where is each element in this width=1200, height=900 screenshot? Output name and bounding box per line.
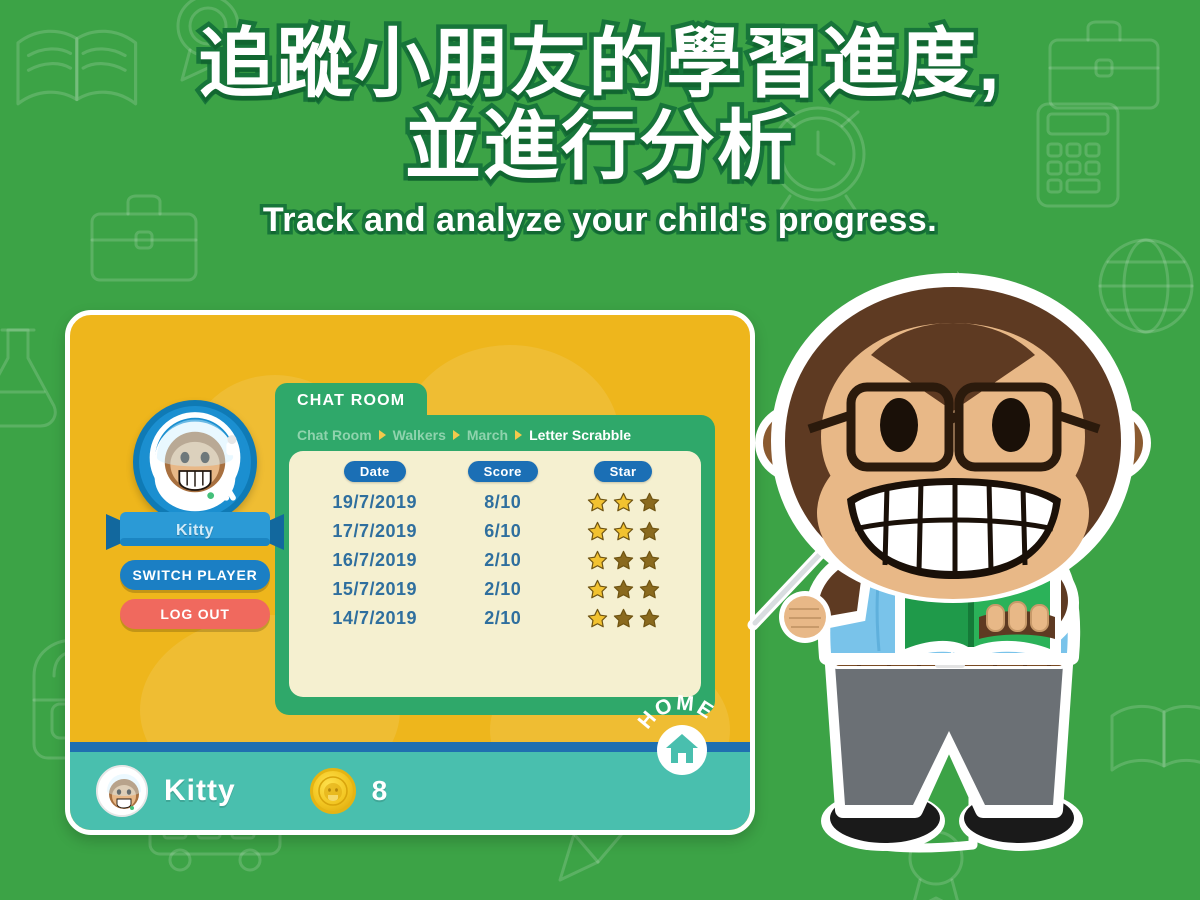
star-rating	[557, 492, 689, 513]
scores-table: Date Score Star 19/7/20198/1017/7/20196/…	[301, 461, 689, 633]
monkey-head	[755, 271, 1151, 599]
table-row[interactable]: 14/7/20192/10	[301, 604, 689, 633]
cell-date: 16/7/2019	[301, 546, 448, 575]
star-dim-icon	[639, 579, 660, 600]
breadcrumb-item-walkers[interactable]: Walkers	[393, 427, 446, 443]
column-header-score-label: Score	[468, 461, 538, 482]
table-row[interactable]: 15/7/20192/10	[301, 575, 689, 604]
status-bar-coin-count: 8	[372, 775, 388, 807]
breadcrumb-item-letter-scrabble[interactable]: Letter Scrabble	[529, 427, 631, 443]
tablet-device: Kitty SWITCH PLAYER LOG OUT CHAT ROOM Ch…	[65, 310, 755, 835]
cell-date: 17/7/2019	[301, 517, 448, 546]
cell-stars	[557, 517, 689, 546]
hero-heading-block: 追蹤小朋友的學習進度, 並進行分析 Track and analyze your…	[0, 26, 1200, 240]
monkey-teacher-character	[735, 265, 1195, 885]
player-panel: Kitty SWITCH PLAYER LOG OUT	[105, 400, 285, 629]
table-header-row: Date Score Star	[301, 461, 689, 488]
scores-table-card: Date Score Star 19/7/20198/1017/7/20196/…	[289, 451, 701, 697]
star-filled-icon	[613, 521, 634, 542]
breadcrumb-item-march[interactable]: March	[467, 427, 508, 443]
cell-score: 2/10	[448, 604, 557, 633]
tab-chat-room[interactable]: CHAT ROOM	[275, 383, 427, 418]
monkey-coin-icon	[310, 768, 356, 814]
cell-stars	[557, 575, 689, 604]
chevron-right-icon	[379, 430, 386, 440]
content-panel: Chat Room Walkers March Letter Scrabble …	[275, 415, 715, 715]
log-out-button[interactable]: LOG OUT	[120, 599, 270, 629]
status-bar-player-name: Kitty	[164, 774, 236, 808]
table-row[interactable]: 16/7/20192/10	[301, 546, 689, 575]
column-header-date-label: Date	[344, 461, 406, 482]
chevron-right-icon	[453, 430, 460, 440]
star-dim-icon	[613, 608, 634, 629]
star-dim-icon	[639, 608, 660, 629]
switch-player-button[interactable]: SWITCH PLAYER	[120, 560, 270, 590]
column-header-star-label: Star	[594, 461, 653, 482]
flask-icon	[0, 330, 55, 426]
scores-table-body: 19/7/20198/1017/7/20196/1016/7/20192/101…	[301, 488, 689, 633]
cell-date: 14/7/2019	[301, 604, 448, 633]
page-title: 追蹤小朋友的學習進度, 並進行分析	[0, 26, 1200, 185]
cell-date: 15/7/2019	[301, 575, 448, 604]
cell-stars	[557, 546, 689, 575]
column-header-date: Date	[301, 461, 448, 488]
cell-score: 8/10	[448, 488, 557, 517]
table-row[interactable]: 19/7/20198/10	[301, 488, 689, 517]
column-header-score: Score	[448, 461, 557, 488]
tablet-screen: Kitty SWITCH PLAYER LOG OUT CHAT ROOM Ch…	[70, 315, 750, 746]
cell-score: 6/10	[448, 517, 557, 546]
star-filled-icon	[587, 579, 608, 600]
headline-line-2: 並進行分析	[0, 108, 1200, 186]
status-bar-avatar[interactable]	[96, 765, 148, 817]
fist	[779, 591, 831, 643]
hand-on-book	[979, 602, 1055, 639]
headline-line-1: 追蹤小朋友的學習進度,	[198, 22, 1001, 107]
star-rating	[557, 521, 689, 542]
cell-stars	[557, 488, 689, 517]
breadcrumb: Chat Room Walkers March Letter Scrabble	[289, 425, 701, 451]
player-name-ribbon: Kitty	[106, 508, 284, 554]
star-dim-icon	[613, 579, 634, 600]
star-filled-icon	[613, 492, 634, 513]
star-filled-icon	[587, 608, 608, 629]
chevron-right-icon	[515, 430, 522, 440]
star-rating	[557, 579, 689, 600]
column-header-star: Star	[557, 461, 689, 488]
star-rating	[557, 550, 689, 571]
player-avatar[interactable]	[133, 400, 257, 524]
cell-score: 2/10	[448, 575, 557, 604]
player-name-label: Kitty	[176, 522, 214, 540]
cell-stars	[557, 604, 689, 633]
cell-score: 2/10	[448, 546, 557, 575]
star-filled-icon	[587, 550, 608, 571]
table-row[interactable]: 17/7/20196/10	[301, 517, 689, 546]
home-button[interactable]: HOME	[636, 692, 728, 784]
star-dim-icon	[613, 550, 634, 571]
star-filled-icon	[587, 492, 608, 513]
cell-date: 19/7/2019	[301, 488, 448, 517]
star-rating	[557, 608, 689, 629]
star-dim-icon	[639, 521, 660, 542]
page-subtitle: Track and analyze your child's progress.	[0, 201, 1200, 240]
star-dim-icon	[639, 550, 660, 571]
star-dim-icon	[639, 492, 660, 513]
breadcrumb-item-chat-room[interactable]: Chat Room	[297, 427, 372, 443]
star-filled-icon	[587, 521, 608, 542]
